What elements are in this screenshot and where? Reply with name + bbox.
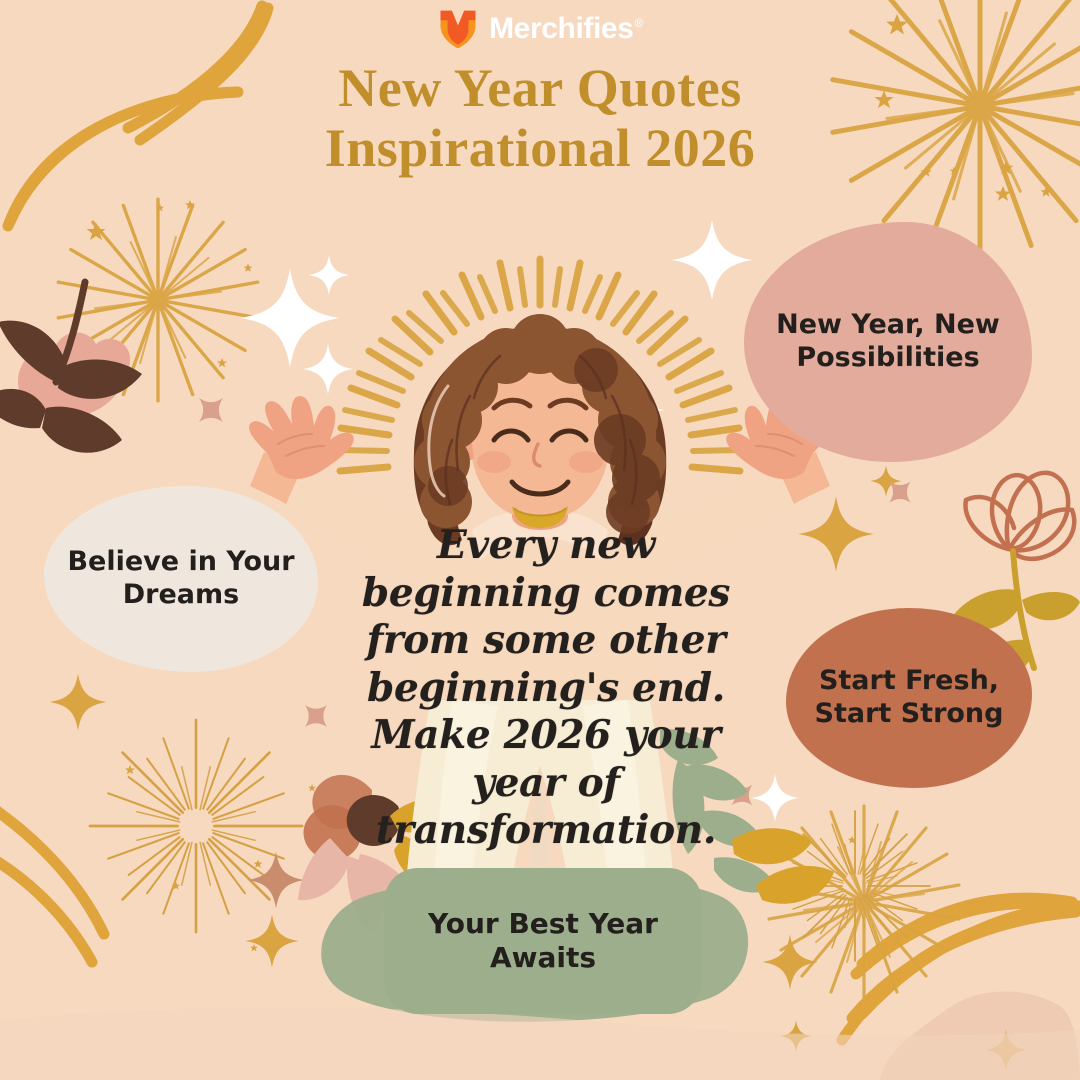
badge-best-year: Your Best Year Awaits (384, 868, 702, 1014)
page-title-line2: Inspirational 2026 (0, 118, 1080, 178)
page-title-line1: New Year Quotes (0, 58, 1080, 118)
brand-name: Merchifies® (489, 14, 643, 44)
page-title: New Year Quotes Inspirational 2026 (0, 58, 1080, 179)
bottom-strip (0, 1007, 1080, 1080)
poster-canvas: Merchifies® New Year Quotes Inspirationa… (0, 0, 1080, 1080)
brand-name-text: Merchifies (489, 12, 633, 45)
quote-text: Every new beginning comes from some othe… (330, 522, 762, 855)
registered-mark: ® (634, 16, 642, 30)
badge-believe-dreams-label: Believe in Your Dreams (62, 546, 300, 612)
badge-best-year-label: Your Best Year Awaits (406, 907, 680, 975)
badge-start-fresh-label: Start Fresh, Start Strong (804, 665, 1014, 731)
merchifies-m-monogram-icon (437, 8, 479, 50)
badge-new-possibilities-label: New Year, New Possibilities (768, 309, 1008, 375)
brand-lockup: Merchifies® (0, 6, 1080, 52)
badge-start-fresh: Start Fresh, Start Strong (786, 608, 1032, 788)
